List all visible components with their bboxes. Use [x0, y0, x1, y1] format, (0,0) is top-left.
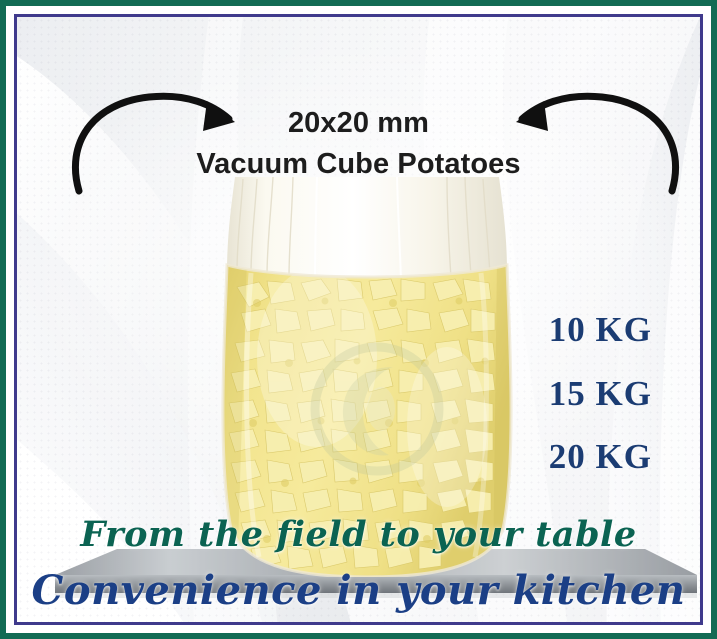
- headline-line-2: Vacuum Cube Potatoes: [17, 144, 700, 185]
- slogan-from-the-field: From the field to your table: [17, 514, 700, 555]
- poster-inner-frame: 20x20 mm Vacuum Cube Potatoes 10 KG 15 K…: [14, 14, 703, 625]
- headline: 20x20 mm Vacuum Cube Potatoes: [17, 103, 700, 185]
- weight-label-20kg: 20 KG: [549, 437, 652, 477]
- headline-line-1: 20x20 mm: [17, 103, 700, 144]
- weight-label-10kg: 10 KG: [549, 310, 652, 350]
- product-poster: 20x20 mm Vacuum Cube Potatoes 10 KG 15 K…: [0, 0, 717, 639]
- weight-label-15kg: 15 KG: [549, 374, 652, 414]
- slogan-convenience: Convenience in your kitchen: [17, 567, 700, 614]
